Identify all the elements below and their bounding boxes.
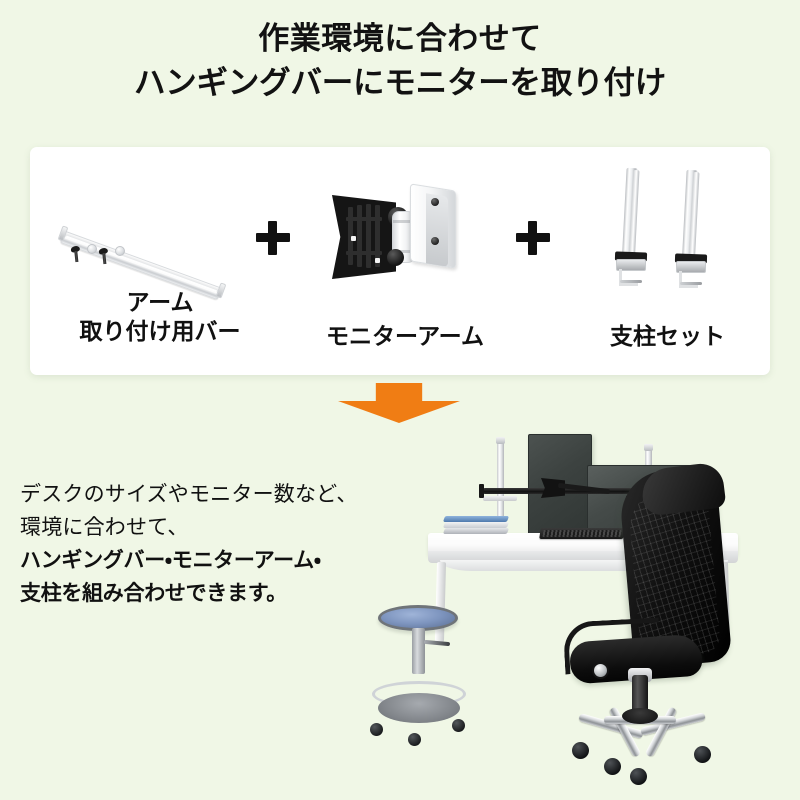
round-stool xyxy=(360,605,480,755)
pole-unit-right xyxy=(670,170,716,288)
chair-caster-1 xyxy=(572,742,589,759)
product-label-bar-line1: アーム xyxy=(127,289,194,315)
stool-height-lever xyxy=(424,640,450,646)
book-stack xyxy=(444,516,508,535)
product-label-arm: モニターアーム xyxy=(300,322,510,351)
chair-caster-4 xyxy=(604,758,621,775)
pole-unit-left xyxy=(610,168,656,286)
plus-icon-1 xyxy=(256,221,290,255)
support-pole-set-icon xyxy=(606,168,741,286)
plus-icon-2 xyxy=(516,221,550,255)
pole-cap-left xyxy=(496,437,505,444)
stool-caster-2 xyxy=(408,733,421,746)
stool-column xyxy=(412,628,425,674)
headline-line-2: ハンギングバーにモニターを取り付け xyxy=(0,61,800,104)
monitor-arm-icon xyxy=(330,175,490,295)
stool-caster-3 xyxy=(452,719,465,732)
vesa-plate-shape xyxy=(332,195,396,279)
product-label-bar-line2: 取り付け用バー xyxy=(80,318,241,344)
stool-base xyxy=(378,693,460,723)
stool-caster-1 xyxy=(370,723,383,736)
chair-armrest xyxy=(563,618,662,675)
chair-base-hub xyxy=(622,708,658,724)
arm-bolt-bottom xyxy=(431,237,439,245)
mesh-office-chair xyxy=(568,470,758,800)
pole-cap-right xyxy=(644,444,653,451)
product-label-bar: アーム 取り付け用バー xyxy=(40,288,280,347)
page-title: 作業環境に合わせて ハンギングバーにモニターを取り付け xyxy=(0,18,800,104)
infographic-stage: 作業環境に合わせて ハンギングバーにモニターを取り付け xyxy=(0,0,800,800)
arm-bolt-top xyxy=(431,198,439,206)
washer-1 xyxy=(87,244,97,254)
hanging-bar-end-left xyxy=(479,484,484,498)
chair-caster-2 xyxy=(630,768,647,785)
screw-1 xyxy=(72,246,81,263)
arm-pivot-bottom xyxy=(387,249,404,266)
product-label-pole: 支柱セット xyxy=(560,322,775,351)
headline-line-1: 作業環境に合わせて xyxy=(0,18,800,61)
washer-2 xyxy=(115,246,125,256)
hanging-bar-icon xyxy=(52,190,227,285)
pole-crossbar-left xyxy=(483,496,517,501)
chair-arm-knob xyxy=(592,662,609,679)
desk-setup-photo xyxy=(340,410,800,800)
chair-caster-3 xyxy=(694,746,711,763)
